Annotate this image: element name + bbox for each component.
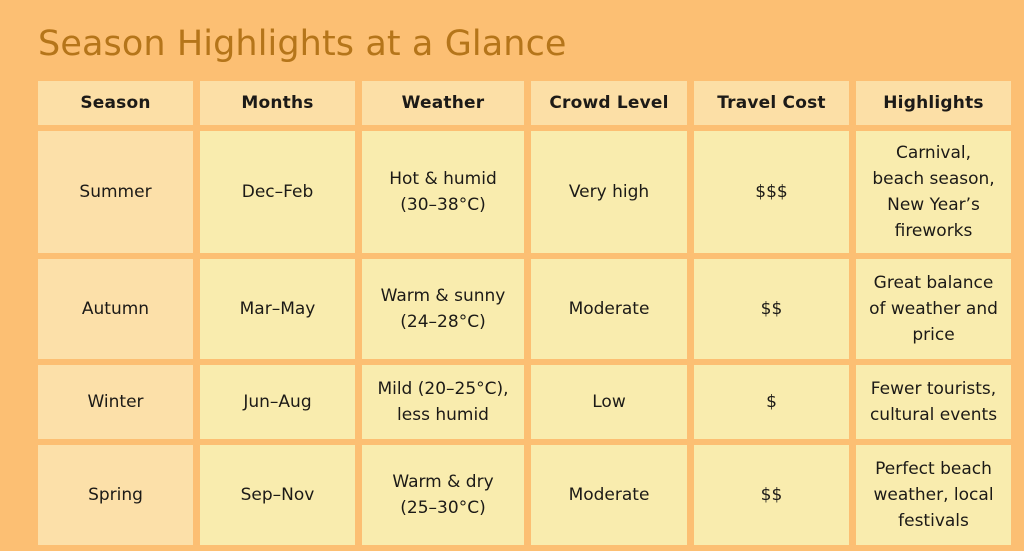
weather-line-1: Warm & dry [370, 469, 516, 495]
cell-travel-cost: $$$ [694, 131, 849, 253]
table-body: Summer Dec–Feb Hot & humid (30–38°C) Ver… [38, 131, 1011, 545]
highlights-line-1: Perfect beach [864, 456, 1003, 482]
cell-travel-cost: $ [694, 365, 849, 439]
cell-travel-cost: $$ [694, 445, 849, 545]
column-header-highlights[interactable]: Highlights [856, 81, 1011, 125]
weather-line-1: Hot & humid [370, 166, 516, 192]
cell-crowd-level: Moderate [531, 259, 687, 359]
cell-crowd-level: Moderate [531, 445, 687, 545]
weather-line-2: less humid [370, 402, 516, 428]
highlights-line-4: fireworks [864, 218, 1003, 244]
cell-highlights: Great balance of weather and price [856, 259, 1011, 359]
cell-months: Mar–May [200, 259, 355, 359]
cell-months: Sep–Nov [200, 445, 355, 545]
table-row: Winter Jun–Aug Mild (20–25°C), less humi… [38, 365, 1011, 439]
cell-travel-cost: $$ [694, 259, 849, 359]
weather-line-1: Warm & sunny [370, 283, 516, 309]
cell-weather: Warm & sunny (24–28°C) [362, 259, 524, 359]
highlights-line-1: Fewer tourists, [864, 376, 1003, 402]
table-header-row: Season Months Weather Crowd Level Travel… [38, 81, 1011, 125]
cell-months: Jun–Aug [200, 365, 355, 439]
highlights-line-1: Great balance [864, 270, 1003, 296]
cell-highlights: Fewer tourists, cultural events [856, 365, 1011, 439]
highlights-line-3: New Year’s [864, 192, 1003, 218]
weather-line-2: (25–30°C) [370, 495, 516, 521]
cell-season: Spring [38, 445, 193, 545]
highlights-line-2: of weather and [864, 296, 1003, 322]
highlights-line-1: Carnival, [864, 140, 1003, 166]
cell-months: Dec–Feb [200, 131, 355, 253]
cell-season: Autumn [38, 259, 193, 359]
column-header-season[interactable]: Season [38, 81, 193, 125]
highlights-line-2: weather, local [864, 482, 1003, 508]
table-row: Summer Dec–Feb Hot & humid (30–38°C) Ver… [38, 131, 1011, 253]
column-header-crowd-level[interactable]: Crowd Level [531, 81, 687, 125]
highlights-line-2: beach season, [864, 166, 1003, 192]
column-header-weather[interactable]: Weather [362, 81, 524, 125]
column-header-months[interactable]: Months [200, 81, 355, 125]
cell-season: Winter [38, 365, 193, 439]
table-container: Season Months Weather Crowd Level Travel… [38, 81, 986, 545]
table-row: Autumn Mar–May Warm & sunny (24–28°C) Mo… [38, 259, 1011, 359]
cell-weather: Mild (20–25°C), less humid [362, 365, 524, 439]
highlights-line-3: festivals [864, 508, 1003, 534]
highlights-line-3: price [864, 322, 1003, 348]
weather-line-2: (24–28°C) [370, 309, 516, 335]
cell-weather: Warm & dry (25–30°C) [362, 445, 524, 545]
weather-line-2: (30–38°C) [370, 192, 516, 218]
table-header: Season Months Weather Crowd Level Travel… [38, 81, 1011, 125]
cell-highlights: Perfect beach weather, local festivals [856, 445, 1011, 545]
weather-line-1: Mild (20–25°C), [370, 376, 516, 402]
cell-season: Summer [38, 131, 193, 253]
table-row: Spring Sep–Nov Warm & dry (25–30°C) Mode… [38, 445, 1011, 545]
poster-canvas: Season Highlights at a Glance Season Mon… [0, 0, 1024, 550]
cell-highlights: Carnival, beach season, New Year’s firew… [856, 131, 1011, 253]
cell-crowd-level: Very high [531, 131, 687, 253]
highlights-line-2: cultural events [864, 402, 1003, 428]
page-title: Season Highlights at a Glance [38, 22, 567, 66]
season-highlights-table: Season Months Weather Crowd Level Travel… [31, 75, 1018, 551]
column-header-travel-cost[interactable]: Travel Cost [694, 81, 849, 125]
cell-crowd-level: Low [531, 365, 687, 439]
cell-weather: Hot & humid (30–38°C) [362, 131, 524, 253]
